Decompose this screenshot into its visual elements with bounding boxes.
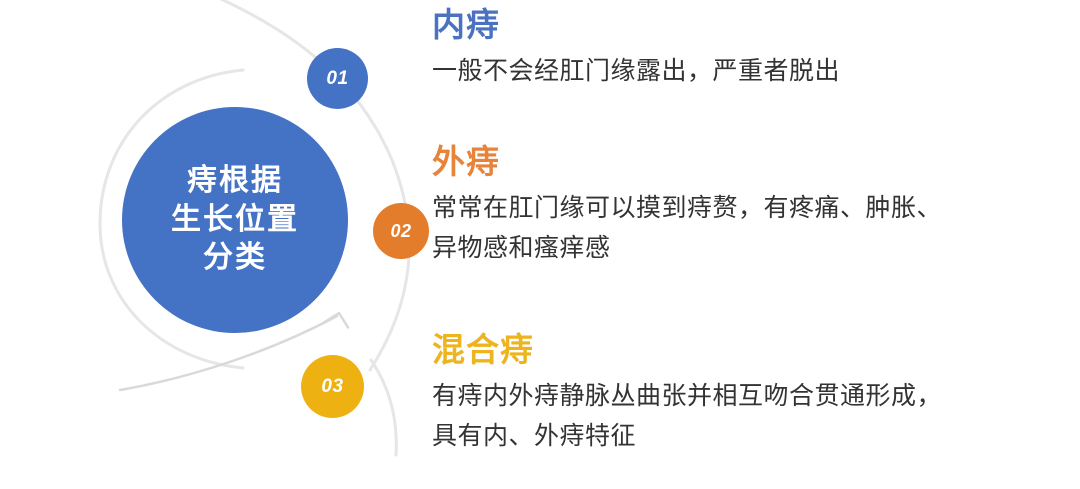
hub-title-line-1: 痔根据 [187, 162, 283, 200]
badge-03[interactable]: 03 [301, 355, 364, 418]
badge-01[interactable]: 01 [307, 48, 368, 109]
section-external-hemorrhoid: 外痔 常常在肛门缘可以摸到痔赘，有疼痛、肿胀、 异物感和瘙痒感 [432, 143, 942, 270]
section-1-body: 一般不会经肛门缘露出，严重者脱出 [432, 52, 840, 93]
section-3-body-line-2: 具有内、外痔特征 [432, 417, 942, 458]
section-1-title: 内痔 [432, 6, 840, 45]
section-1-body-line-1: 一般不会经肛门缘露出，严重者脱出 [432, 52, 840, 93]
section-2-body-line-2: 异物感和瘙痒感 [432, 229, 942, 270]
badge-02[interactable]: 02 [373, 203, 429, 259]
section-internal-hemorrhoid: 内痔 一般不会经肛门缘露出，严重者脱出 [432, 6, 840, 92]
hub-title-line-2: 生长位置 [171, 201, 299, 239]
section-2-body-line-1: 常常在肛门缘可以摸到痔赘，有疼痛、肿胀、 [432, 189, 942, 230]
lower-outer-arc [371, 360, 396, 455]
section-3-body-line-1: 有痔内外痔静脉丛曲张并相互吻合贯通形成， [432, 377, 942, 418]
arrow-head-icon [325, 313, 348, 336]
section-3-title: 混合痔 [432, 331, 942, 370]
section-mixed-hemorrhoid: 混合痔 有痔内外痔静脉丛曲张并相互吻合贯通形成， 具有内、外痔特征 [432, 331, 942, 458]
hub-circle: 痔根据 生长位置 分类 [122, 107, 348, 333]
infographic-canvas: 痔根据 生长位置 分类 01 02 03 内痔 一般不会经肛门缘露出，严重者脱出… [0, 0, 1080, 489]
section-2-title: 外痔 [432, 143, 942, 182]
section-2-body: 常常在肛门缘可以摸到痔赘，有疼痛、肿胀、 异物感和瘙痒感 [432, 189, 942, 270]
hub-title-line-3: 分类 [203, 239, 267, 277]
section-3-body: 有痔内外痔静脉丛曲张并相互吻合贯通形成， 具有内、外痔特征 [432, 377, 942, 458]
